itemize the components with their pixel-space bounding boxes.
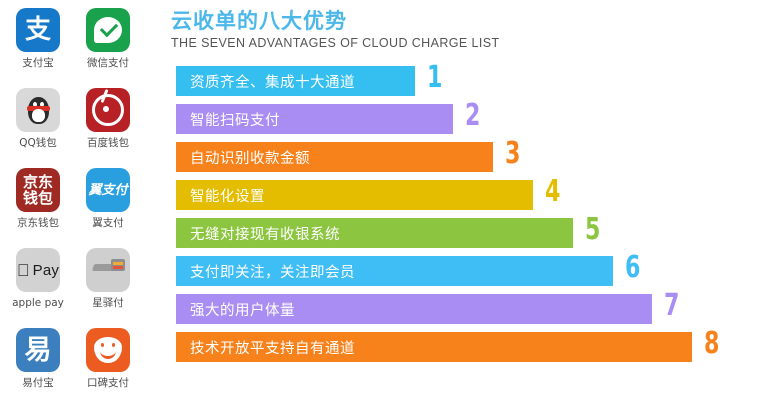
payment-icon-koubei-pay[interactable]: 口碑支付: [74, 328, 142, 390]
advantage-rank-2: 2: [465, 97, 480, 135]
page-title: 云收单的八大优势: [171, 8, 500, 34]
payment-icon-label: 翼支付: [74, 217, 142, 230]
alipay-icon: 支: [16, 8, 60, 52]
yi-pay-glyph: 翼支付: [86, 168, 130, 212]
apple-logo-icon:  Pay: [16, 248, 60, 292]
payment-icon-grid: 支 支付宝 微信支付 QQ钱包 百度钱包: [0, 0, 148, 408]
koubei-smile-icon: [86, 328, 130, 372]
advantage-rank-8: 8: [704, 325, 719, 363]
yifubao-glyph: 易: [16, 328, 60, 372]
advantage-label: 强大的用户体量: [190, 299, 295, 320]
advantage-bar-2: 智能扫码支付: [176, 104, 453, 134]
baidu-wallet-icon: [86, 88, 130, 132]
advantage-rank-7: 7: [664, 287, 679, 325]
bar-row: 强大的用户体量 7: [148, 290, 771, 328]
alipay-glyph: 支: [16, 8, 60, 52]
payment-icon-label: 微信支付: [74, 57, 142, 70]
xingyi-ribbon-icon: [86, 248, 130, 292]
payment-icon-label: apple pay: [4, 297, 72, 310]
advantage-label: 智能扫码支付: [190, 109, 280, 130]
wechat-pay-icon: [86, 8, 130, 52]
qq-penguin-icon: [16, 88, 60, 132]
payment-icon-wechat-pay[interactable]: 微信支付: [74, 8, 142, 70]
advantage-rank-5: 5: [585, 211, 600, 249]
advantage-bar-4: 智能化设置: [176, 180, 533, 210]
payment-icon-label: 星驿付: [74, 297, 142, 310]
bar-row: 智能扫码支付 2: [148, 100, 771, 138]
advantages-bar-chart: 资质齐全、集成十大通道 1 智能扫码支付 2 自动识别收款金额 3 智能化设置 …: [148, 62, 771, 366]
advantage-label: 智能化设置: [190, 185, 265, 206]
bar-row: 资质齐全、集成十大通道 1: [148, 62, 771, 100]
jd-wallet-icon: 京东钱包: [16, 168, 60, 212]
advantage-rank-4: 4: [545, 173, 560, 211]
bar-row: 支付即关注，关注即会员 6: [148, 252, 771, 290]
advantage-rank-1: 1: [427, 59, 442, 97]
apple-pay-icon:  Pay: [16, 248, 60, 292]
advantages-panel: 云收单的八大优势 THE SEVEN ADVANTAGES OF CLOUD C…: [148, 0, 771, 408]
jd-wallet-glyph: 京东钱包: [16, 168, 60, 212]
bar-row: 无缝对接现有收银系统 5: [148, 214, 771, 252]
payment-icon-yi-pay[interactable]: 翼支付 翼支付: [74, 168, 142, 230]
payment-icon-label: 百度钱包: [74, 137, 142, 150]
advantage-bar-7: 强大的用户体量: [176, 294, 652, 324]
yi-pay-icon: 翼支付: [86, 168, 130, 212]
payment-icon-yifubao[interactable]: 易 易付宝: [4, 328, 72, 390]
advantage-label: 支付即关注，关注即会员: [190, 261, 355, 282]
qq-wallet-icon: [16, 88, 60, 132]
advantage-label: 资质齐全、集成十大通道: [190, 71, 355, 92]
advantage-bar-3: 自动识别收款金额: [176, 142, 493, 172]
advantage-bar-5: 无缝对接现有收银系统: [176, 218, 573, 248]
payment-icon-baidu-wallet[interactable]: 百度钱包: [74, 88, 142, 150]
bar-row: 自动识别收款金额 3: [148, 138, 771, 176]
title-block: 云收单的八大优势 THE SEVEN ADVANTAGES OF CLOUD C…: [171, 8, 500, 52]
apple-pay-word: Pay: [33, 263, 59, 278]
payment-icon-label: 口碑支付: [74, 377, 142, 390]
page-subtitle: THE SEVEN ADVANTAGES OF CLOUD CHARGE LIS…: [171, 35, 500, 52]
bar-row: 技术开放平支持自有通道 8: [148, 328, 771, 366]
advantage-bar-1: 资质齐全、集成十大通道: [176, 66, 415, 96]
koubei-pay-icon: [86, 328, 130, 372]
advantage-bar-6: 支付即关注，关注即会员: [176, 256, 613, 286]
advantage-rank-6: 6: [625, 249, 640, 287]
yifubao-icon: 易: [16, 328, 60, 372]
payment-icon-label: 易付宝: [4, 377, 72, 390]
xingyi-pay-icon: [86, 248, 130, 292]
advantage-bar-8: 技术开放平支持自有通道: [176, 332, 692, 362]
advantage-label: 自动识别收款金额: [190, 147, 310, 168]
wechat-bubble-icon: [86, 8, 130, 52]
payment-icon-qq-wallet[interactable]: QQ钱包: [4, 88, 72, 150]
payment-icon-label: 京东钱包: [4, 217, 72, 230]
payment-icon-jd-wallet[interactable]: 京东钱包 京东钱包: [4, 168, 72, 230]
baidu-paw-icon: [86, 88, 130, 132]
advantage-label: 无缝对接现有收银系统: [190, 223, 340, 244]
payment-icon-alipay[interactable]: 支 支付宝: [4, 8, 72, 70]
payment-icon-xingyi-pay[interactable]: 星驿付: [74, 248, 142, 310]
advantage-rank-3: 3: [505, 135, 520, 173]
payment-icon-label: 支付宝: [4, 57, 72, 70]
bar-row: 智能化设置 4: [148, 176, 771, 214]
payment-icon-apple-pay[interactable]:  Pay apple pay: [4, 248, 72, 310]
advantage-label: 技术开放平支持自有通道: [190, 337, 355, 358]
payment-icon-label: QQ钱包: [4, 137, 72, 150]
